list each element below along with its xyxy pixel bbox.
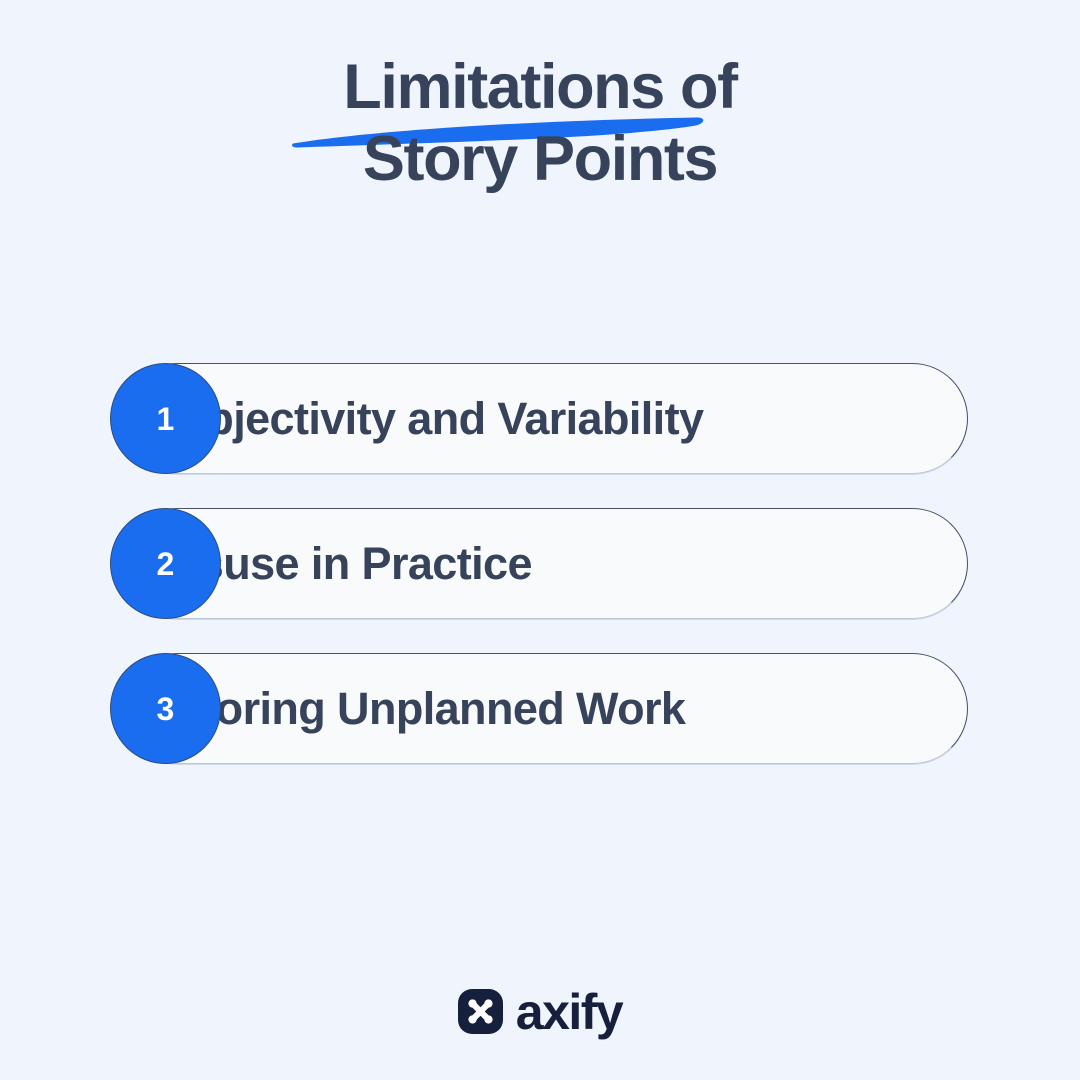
- title-line-2: Story Points: [0, 124, 1080, 194]
- list-item-label: Ignoring Unplanned Work: [150, 653, 685, 764]
- page-title: Limitations of Story Points: [0, 52, 1080, 194]
- infographic-canvas: Limitations of Story Points 1 Subjectivi…: [0, 0, 1080, 1080]
- list-item-number-badge: 3: [110, 653, 221, 764]
- list-item-label: Subjectivity and Variability: [150, 363, 703, 474]
- axify-x-logo-icon: [458, 989, 503, 1034]
- brand-logo: axify: [0, 989, 1080, 1034]
- title-line-1: Limitations of: [0, 52, 1080, 122]
- list-item[interactable]: 2 Misuse in Practice: [0, 508, 1080, 619]
- list-item-number: 1: [157, 403, 175, 435]
- list-item[interactable]: 1 Subjectivity and Variability: [0, 363, 1080, 474]
- list-item-number-badge: 1: [110, 363, 221, 474]
- brand-wordmark: axify: [516, 990, 622, 1035]
- list-item-number: 3: [157, 693, 175, 725]
- limitations-list: 1 Subjectivity and Variability 2 Misuse …: [0, 363, 1080, 764]
- list-item[interactable]: 3 Ignoring Unplanned Work: [0, 653, 1080, 764]
- list-item-number: 2: [157, 548, 175, 580]
- list-item-number-badge: 2: [110, 508, 221, 619]
